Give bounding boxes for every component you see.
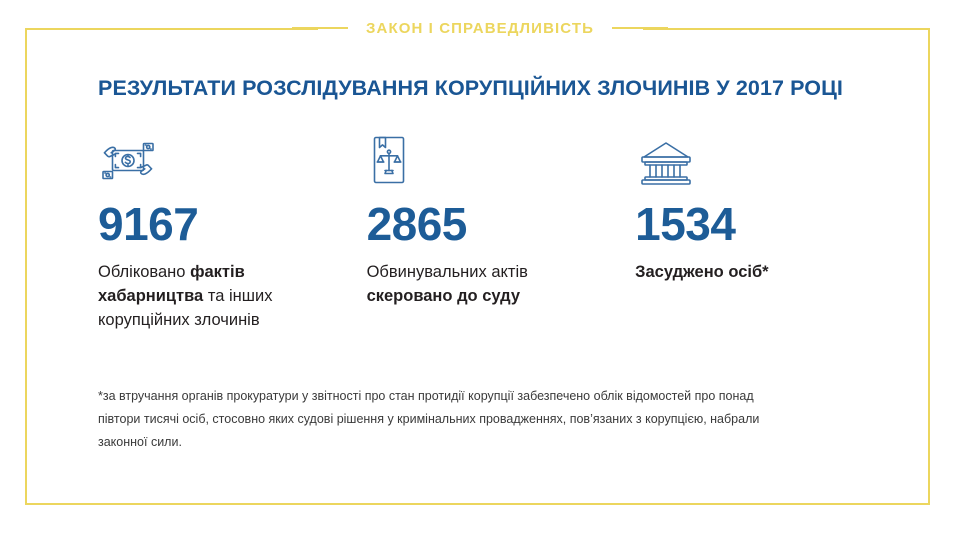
document-scales-of-justice-icon (367, 131, 610, 187)
statistics-row: 9167 Обліковано фактів хабарництва та ін… (98, 131, 882, 333)
stat-column-bribery: 9167 Обліковано фактів хабарництва та ін… (98, 131, 367, 333)
eyebrow-label: ЗАКОН І СПРАВЕДЛИВІСТЬ (366, 20, 594, 37)
eyebrow-banner: ЗАКОН І СПРАВЕДЛИВІСТЬ (0, 0, 960, 56)
stat-caption-part: Обліковано (98, 263, 190, 281)
stat-caption: Обвинувальних актів скеровано до суду (367, 261, 610, 309)
stat-column-convicted: 1534 Засуджено осіб* (635, 131, 882, 333)
eyebrow-rule-left (292, 27, 348, 29)
stat-caption: Обліковано фактів хабарництва та інших к… (98, 261, 341, 333)
stat-caption-part-bold: скеровано до суду (367, 287, 520, 305)
stat-value: 2865 (367, 201, 610, 247)
page-title: РЕЗУЛЬТАТИ РОЗСЛІДУВАННЯ КОРУПЦІЙНИХ ЗЛО… (98, 76, 882, 101)
stat-column-indictments: 2865 Обвинувальних актів скеровано до су… (367, 131, 636, 333)
eyebrow-rule-right (612, 27, 668, 29)
stat-caption: Засуджено осіб* (635, 261, 856, 285)
money-handoff-bribe-icon (98, 131, 341, 187)
stat-value: 1534 (635, 201, 856, 247)
stat-caption-part: Обвинувальних актів (367, 263, 528, 281)
infographic-content: РЕЗУЛЬТАТИ РОЗСЛІДУВАННЯ КОРУПЦІЙНИХ ЗЛО… (25, 28, 930, 505)
stat-caption-part-bold: Засуджено осіб* (635, 263, 768, 281)
stat-value: 9167 (98, 201, 341, 247)
courthouse-building-icon (635, 131, 856, 187)
footnote-text: *за втручання органів прокуратури у звіт… (98, 385, 798, 454)
